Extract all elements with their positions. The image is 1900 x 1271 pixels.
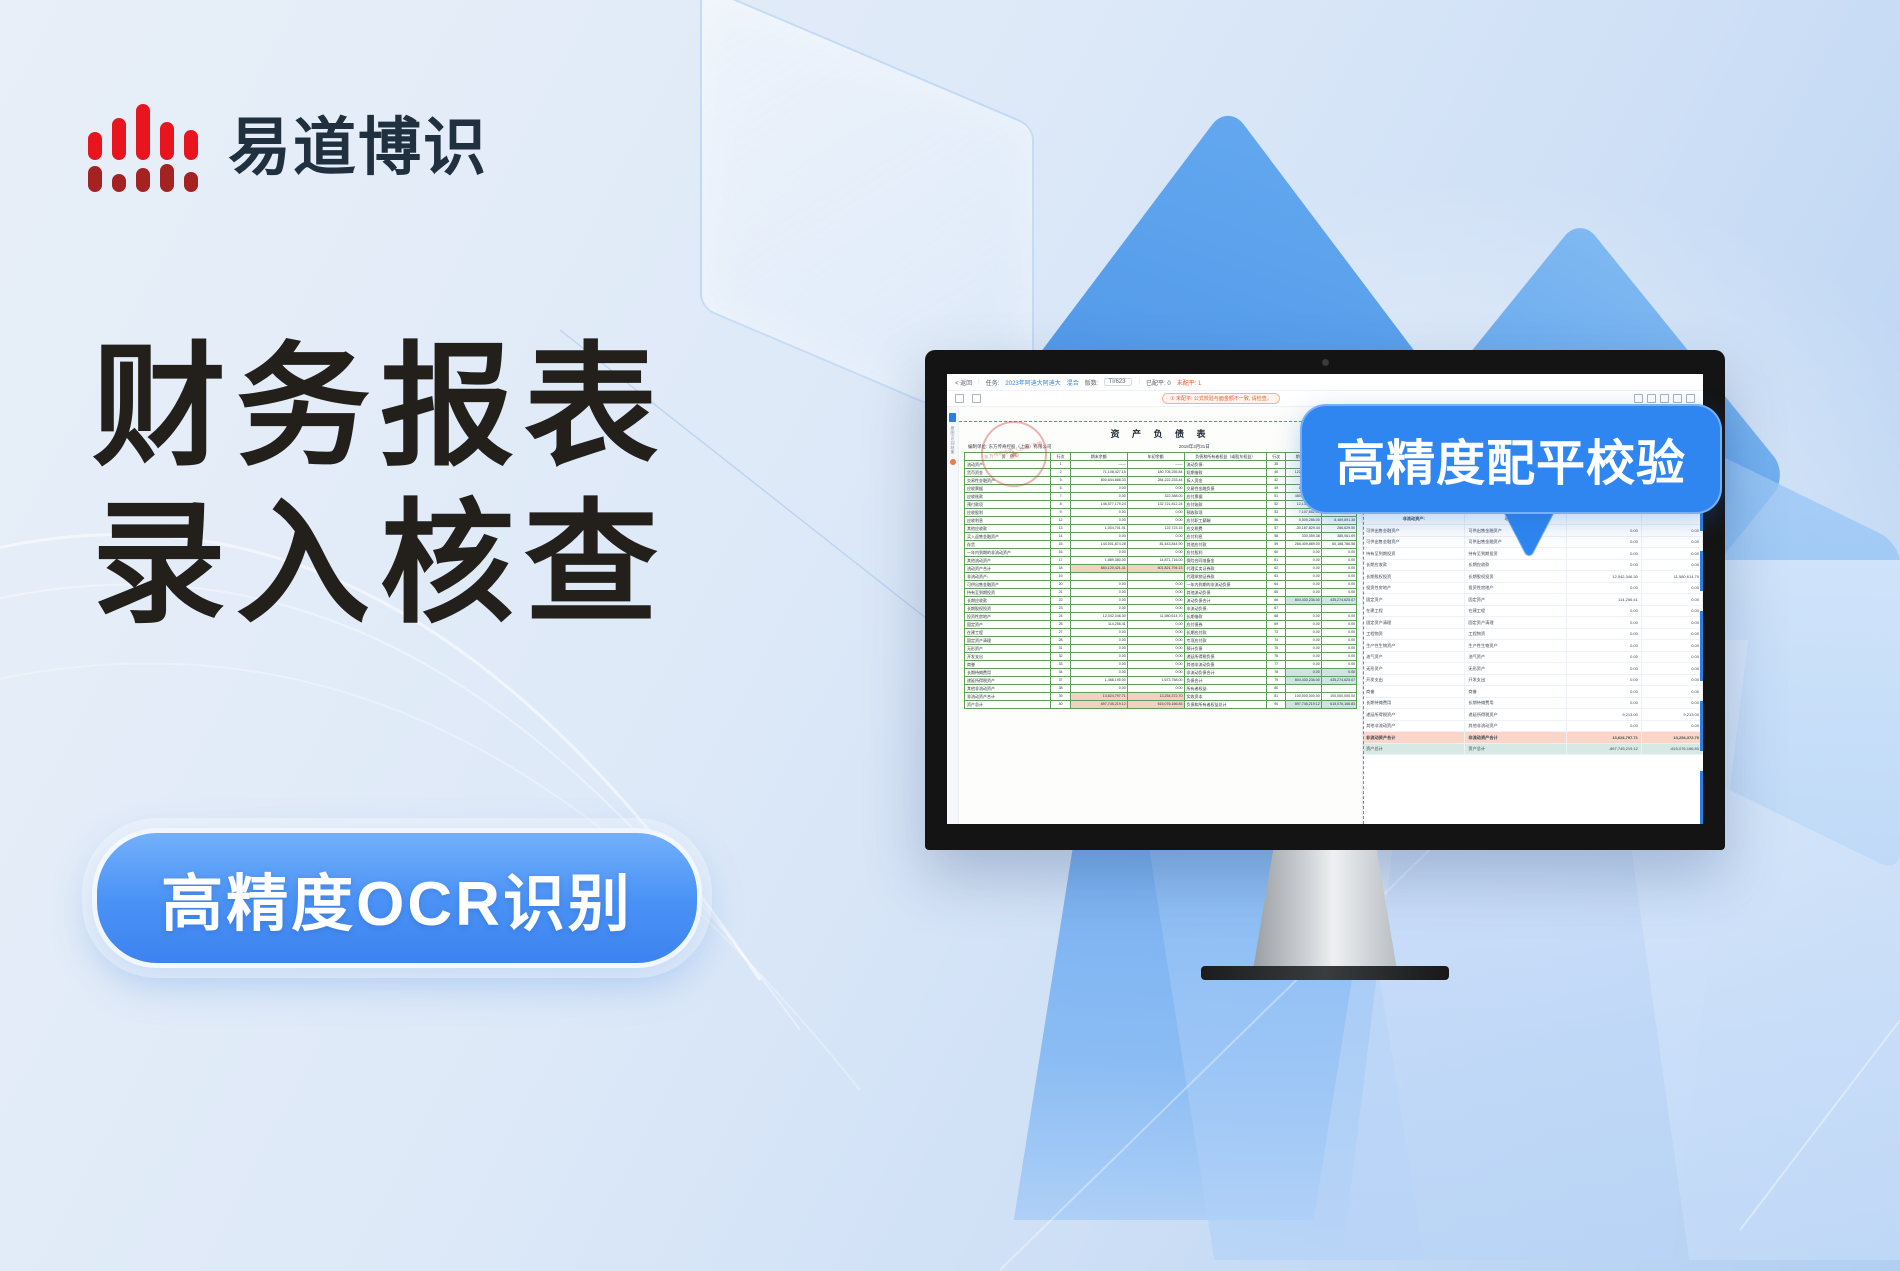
table-cell: 存货 (965, 541, 1051, 549)
th-end-a: 期末余额 (1070, 453, 1127, 461)
table-cell: 0.00 (1286, 645, 1321, 653)
table-cell: 0.00 (1070, 589, 1127, 597)
table-cell: 应付账款 (1184, 501, 1266, 509)
table-row: 其他非流动资产380.000.00所有者权益:80 (965, 685, 1357, 693)
back-button[interactable]: < 返回 (955, 378, 972, 387)
extraction-cell[interactable]: 0.00 (1567, 559, 1642, 571)
table-cell: 0.00 (1127, 517, 1184, 525)
table-cell (1321, 605, 1356, 613)
table-cell: 0.00 (1070, 629, 1127, 637)
table-cell (1070, 573, 1127, 581)
table-cell: 51 (1266, 493, 1286, 501)
extraction-cell[interactable]: 0.00 (1641, 559, 1702, 571)
table-row: 递延所得税资产371,468,195.001,673,758.00负债合计798… (965, 677, 1357, 685)
table-cell: 0.00 (1286, 549, 1321, 557)
table-cell: 非流动负债: (1184, 605, 1266, 613)
table-cell: 应付股利 (1184, 549, 1266, 557)
extraction-cell[interactable]: 投资性房地产 (1465, 582, 1567, 594)
table-cell: 0.00 (1070, 685, 1127, 693)
edit-icon[interactable] (1673, 394, 1682, 403)
table-cell: 长期应付款 (1184, 629, 1266, 637)
table-cell: 1,468,195.00 (1070, 677, 1127, 685)
extraction-row[interactable]: 商誉商誉0.000.00 (1363, 686, 1702, 698)
table-cell: 5,509,286.00 (1286, 517, 1321, 525)
table-cell: 0.00 (1286, 565, 1321, 573)
extraction-cell[interactable]: 0.00 (1641, 674, 1702, 686)
table-cell: 284,222,233.44 (1127, 477, 1184, 485)
table-cell: 0.00 (1127, 653, 1184, 661)
table-cell: 应交税费 (1184, 525, 1266, 533)
extraction-cell[interactable]: 可供出售金融资产 (1363, 536, 1465, 548)
table-cell: 0.00 (1127, 485, 1184, 493)
table-cell: 0.00 (1127, 581, 1184, 589)
table-row: 应收票据60.000.00交易性金融负债491,158,700.000.00 (965, 485, 1357, 493)
extraction-cell[interactable]: 长期待摊费用 (1363, 697, 1465, 709)
extraction-cell[interactable]: 油气资产 (1465, 651, 1567, 663)
extraction-cell[interactable]: 工程物资 (1363, 628, 1465, 640)
extraction-cell[interactable]: 固定资产 (1465, 594, 1567, 606)
extraction-row[interactable]: 无形资产无形资产0.000.00 (1363, 663, 1702, 675)
table-row: 固定资产清理280.000.00专项应付款740.000.00 (965, 637, 1357, 645)
table-cell: 100,000,000.00 (1321, 693, 1356, 701)
table-cell: 435,274,625.07 (1321, 597, 1356, 605)
table-cell: 62 (1266, 565, 1286, 573)
table-row: 非流动资产合计3913,624,797.7113,254,372.70实收资本8… (965, 693, 1357, 701)
table-cell: 31 (1051, 645, 1071, 653)
table-cell: 1 (1051, 461, 1071, 469)
table-cell: 38 (1051, 685, 1071, 693)
table-cell: 0.00 (1321, 557, 1356, 565)
table-cell: 67 (1266, 605, 1286, 613)
table-cell: 23 (1051, 605, 1071, 613)
extraction-cell[interactable]: 在建工程 (1363, 605, 1465, 617)
table-row: 在建工程270.000.00长期应付款730.000.00 (965, 629, 1357, 637)
table-cell: 74 (1266, 637, 1286, 645)
table-cell: 25 (1051, 621, 1071, 629)
table-row: 流动资产合计18884,120,421.41601,821,794.13代理买卖… (965, 565, 1357, 573)
table-cell: 80 (1266, 685, 1286, 693)
table-cell: 2 (1051, 469, 1071, 477)
table-cell: 其他非流动资产 (965, 685, 1051, 693)
table-cell: 非流动资产: (965, 573, 1051, 581)
table-cell: 0.00 (1127, 589, 1184, 597)
table-cell: 0.00 (1070, 669, 1127, 677)
table-row: 其他流动资产171,889,380.0014,871,716.00保险合同准备金… (965, 557, 1357, 565)
extraction-cell[interactable]: 0.00 (1567, 525, 1642, 537)
table-cell: 应付利息 (1184, 533, 1266, 541)
table-row: 预付款项8146,577,179.24132,721,812.24应付账款521… (965, 501, 1357, 509)
extraction-cell[interactable]: 在建工程 (1465, 605, 1567, 617)
table-cell: 资产总计 (965, 701, 1051, 709)
extraction-cell[interactable]: 0.00 (1641, 628, 1702, 640)
table-cell: 77 (1266, 661, 1286, 669)
extraction-cell[interactable]: 0.00 (1567, 720, 1642, 732)
table-cell: 0.00 (1321, 637, 1356, 645)
table-cell: 0.00 (1070, 653, 1127, 661)
table-cell: 应收股利 (965, 509, 1051, 517)
print-icon[interactable] (972, 394, 981, 403)
table-cell: 20 (1051, 581, 1071, 589)
table-cell: 0.00 (1286, 637, 1321, 645)
extraction-cell[interactable]: 0.00 (1567, 536, 1642, 548)
table-cell: 代理买卖证券款 (1184, 565, 1266, 573)
table-row: 非流动资产:19代理承销证券款630.000.00 (965, 573, 1357, 581)
extraction-cell[interactable]: 长期股权投资 (1465, 571, 1567, 583)
table-row: 开发支出320.000.00递延所得税负债760.000.00 (965, 653, 1357, 661)
extraction-row[interactable]: 长期应收款长期应收款0.000.00 (1363, 559, 1702, 571)
extraction-row[interactable]: 长期待摊费用长期待摊费用0.000.00 (1363, 697, 1702, 709)
extraction-cell[interactable]: 开发支出 (1465, 674, 1567, 686)
table-cell: 0.00 (1321, 653, 1356, 661)
extraction-cell[interactable]: 非流动资产: (1363, 513, 1465, 525)
table-row: 存货15144,001,874.2881,443,844.90其他应付款5926… (965, 541, 1357, 549)
rail-page-number[interactable] (949, 413, 956, 422)
extraction-cell[interactable]: 12,042,346.30 (1567, 571, 1642, 583)
extraction-cell[interactable]: 0.00 (1567, 697, 1642, 709)
table-cell: 流动负债合计 (1184, 597, 1266, 605)
table-cell: 0.00 (1127, 637, 1184, 645)
table-cell: 385,061.69 (1321, 533, 1356, 541)
extraction-cell[interactable]: -615,076,166.83 (1641, 743, 1702, 755)
extraction-cell[interactable]: 非流动资产合计 (1363, 732, 1465, 744)
table-cell: 0.00 (1321, 581, 1356, 589)
table-cell: 19 (1051, 573, 1071, 581)
table-cell: —— (1127, 461, 1184, 469)
extraction-row[interactable]: 油气资产油气资产0.000.00 (1363, 651, 1702, 663)
table-cell: 800,844,888.33 (1070, 477, 1127, 485)
table-cell: 615,076,166.83 (1127, 701, 1184, 709)
table-cell: 应收利息 (965, 517, 1051, 525)
table-cell: 63 (1266, 573, 1286, 581)
extraction-cell[interactable]: 资产总计 (1363, 743, 1465, 755)
extraction-cell[interactable]: 长期应收款 (1465, 559, 1567, 571)
table-cell: 286,629.50 (1321, 525, 1356, 533)
extraction-cell[interactable]: 0.00 (1641, 548, 1702, 560)
table-cell: 0.00 (1127, 645, 1184, 653)
extraction-cell[interactable]: 固定资产清理 (1465, 617, 1567, 629)
table-cell: 37 (1051, 677, 1071, 685)
table-cell: 0.00 (1286, 621, 1321, 629)
extraction-cell[interactable]: 其他非流动资产 (1363, 720, 1465, 732)
extraction-cell[interactable] (1641, 513, 1702, 525)
table-cell: 0.00 (1127, 533, 1184, 541)
balanced-count: 已配平: 0 (1146, 378, 1171, 387)
extraction-cell[interactable]: 固定资产清理 (1363, 617, 1465, 629)
brand-name: 易道博识 (228, 117, 488, 180)
extraction-cell[interactable]: -897,745,219.12 (1567, 743, 1642, 755)
table-cell: 0.00 (1321, 613, 1356, 621)
table-cell: 递延所得税资产 (965, 677, 1051, 685)
table-cell: 601,821,794.13 (1127, 565, 1184, 573)
table-cell: 开发支出 (965, 653, 1051, 661)
extraction-row[interactable]: 非流动资产合计非流动资产合计13,624,797.7113,254,372.70 (1363, 732, 1702, 744)
table-cell: 0.00 (1127, 685, 1184, 693)
table-cell: 66 (1266, 597, 1286, 605)
table-cell: 0.00 (1070, 597, 1127, 605)
extraction-cell[interactable]: 开发支出 (1363, 674, 1465, 686)
table-cell: 0.00 (1321, 629, 1356, 637)
table-cell: 0.00 (1321, 621, 1356, 629)
table-cell: 35 (1266, 461, 1286, 469)
table-row: 长期待摊费用340.000.00非流动负债合计780.000.00 (965, 669, 1357, 677)
table-row: 长期应收款220.000.00流动负债合计66804,430,236.00435… (965, 597, 1357, 605)
table-cell: 其他流动资产 (965, 557, 1051, 565)
extraction-cell[interactable] (1567, 513, 1642, 525)
extraction-cell[interactable]: 0.00 (1567, 628, 1642, 640)
table-cell: 长期应收款 (965, 597, 1051, 605)
extraction-cell[interactable]: 0.00 (1567, 605, 1642, 617)
extraction-cell[interactable]: 0.00 (1641, 582, 1702, 594)
extraction-cell[interactable]: 13,254,372.70 (1641, 732, 1702, 744)
table-cell: 0.00 (1070, 605, 1127, 613)
table-cell: 其他流动负债 (1184, 589, 1266, 597)
table-cell: 60,188,786.58 (1321, 541, 1356, 549)
table-cell: 0.00 (1070, 661, 1127, 669)
table-cell: 7 (1051, 493, 1071, 501)
extraction-row[interactable]: 生产性生物资产生产性生物资产0.000.00 (1363, 640, 1702, 652)
table-cell: 6 (1051, 485, 1071, 493)
table-cell: 0.00 (1286, 653, 1321, 661)
table-cell: 114,256.41 (1070, 621, 1127, 629)
th-row-b: 行次 (1266, 453, 1286, 461)
table-cell: 0.00 (1321, 573, 1356, 581)
extraction-cell[interactable]: 0.00 (1641, 640, 1702, 652)
table-cell: 0.00 (1321, 589, 1356, 597)
table-cell: 负债和所有者权益总计 (1184, 701, 1266, 709)
extraction-cell[interactable]: 无形资产 (1465, 663, 1567, 675)
table-cell: 146,577,179.24 (1070, 501, 1127, 509)
extraction-row[interactable]: 长期股权投资长期股权投资12,042,346.3011,580,614.70 (1363, 571, 1702, 583)
table-cell: 49 (1266, 485, 1286, 493)
extraction-cell[interactable]: 9,213.00 (1567, 709, 1642, 721)
task-label: 任务: (986, 378, 1000, 387)
table-cell: 其他应收款 (965, 525, 1051, 533)
table-cell: 32 (1051, 653, 1071, 661)
extraction-row[interactable]: 投资性房地产投资性房地产0.000.00 (1363, 582, 1702, 594)
table-cell: 专项应付款 (1184, 637, 1266, 645)
cta-button[interactable]: 高精度OCR识别 (92, 828, 702, 968)
extraction-cell[interactable]: 0.00 (1567, 651, 1642, 663)
promo-banner: 易道博识 财务报表 录入核查 高精度OCR识别 < 返回 | 任务: 2023年… (0, 0, 1900, 1271)
table-cell: 897,745,219.12 (1286, 701, 1321, 709)
table-cell: 0.00 (1070, 645, 1127, 653)
extraction-cell[interactable]: 递延所得税资产 (1465, 709, 1567, 721)
table-cell: 615,076,166.83 (1321, 701, 1356, 709)
table-cell: 81,443,844.90 (1127, 541, 1184, 549)
table-cell: 58 (1266, 533, 1286, 541)
extraction-cell[interactable]: 投资性房地产 (1363, 582, 1465, 594)
table-cell: 42 (1266, 477, 1286, 485)
task-name[interactable]: 2023年阿迪大阿迪大 (1005, 378, 1060, 387)
extraction-row[interactable]: 在建工程在建工程0.000.00 (1363, 605, 1702, 617)
table-cell: 可供出售金融资产 (965, 581, 1051, 589)
undo-icon[interactable] (1634, 394, 1643, 403)
table-cell: 65 (1266, 589, 1286, 597)
extraction-cell[interactable]: 工程物资 (1465, 628, 1567, 640)
table-cell: 78 (1266, 669, 1286, 677)
extraction-cell[interactable]: 长期应收款 (1363, 559, 1465, 571)
monitor-neck (1253, 850, 1397, 970)
extraction-cell[interactable]: 递延所得税资产 (1363, 709, 1465, 721)
extraction-cell[interactable]: 0.00 (1567, 617, 1642, 629)
table-cell: 804,430,236.00 (1286, 597, 1321, 605)
headline-line-1: 财务报表 (92, 330, 668, 487)
table-cell: 0.00 (1321, 669, 1356, 677)
table-cell: 投资性房地产 (965, 613, 1051, 621)
table-cell: 17 (1051, 557, 1071, 565)
soundwave-logo-icon (88, 104, 206, 192)
table-cell: 81 (1266, 693, 1286, 701)
extraction-row[interactable]: 固定资产固定资产114,256.410.00 (1363, 594, 1702, 606)
extraction-row[interactable]: 递延所得税资产递延所得税资产9,213.009,213.00 (1363, 709, 1702, 721)
extraction-cell[interactable]: 0.00 (1641, 525, 1702, 537)
table-cell: 0.00 (1070, 637, 1127, 645)
extraction-cell[interactable]: 0.00 (1567, 674, 1642, 686)
extraction-cell[interactable]: 0.00 (1567, 663, 1642, 675)
table-cell: 73 (1266, 629, 1286, 637)
extraction-row[interactable]: 其他非流动资产其他非流动资产0.000.00 (1363, 720, 1702, 732)
table-cell: 804,430,236.00 (1286, 677, 1321, 685)
extraction-cell[interactable]: 商誉 (1465, 686, 1567, 698)
table-cell: 递延所得税负债 (1184, 653, 1266, 661)
table-cell: 330,359.38 (1286, 533, 1321, 541)
headline-line-2: 录入核查 (92, 487, 668, 644)
table-cell: 322,388.00 (1127, 493, 1184, 501)
table-cell: 8 (1051, 501, 1071, 509)
table-cell: 0.00 (1286, 661, 1321, 669)
extraction-cell[interactable]: 0.00 (1641, 605, 1702, 617)
extraction-cell[interactable]: 非流动资产合计 (1465, 732, 1567, 744)
extraction-cell[interactable]: 0.00 (1641, 617, 1702, 629)
table-cell: 435,274,625.07 (1321, 677, 1356, 685)
page-select[interactable]: TI/623 (1104, 378, 1132, 386)
table-cell: 15 (1051, 541, 1071, 549)
table-cell: 一年内到期的非流动负债 (1184, 581, 1266, 589)
table-cell: 预收款项 (1184, 509, 1266, 517)
table-cell: 非流动资产合计 (965, 693, 1051, 701)
balance-sheet-table: 资 产 行次 期末余额 年初余额 负债和所有者权益（或股东权益） 行次 期末余额… (964, 452, 1357, 709)
page-rail: 原图/识别结果 (947, 407, 959, 824)
extraction-cell[interactable]: 0.00 (1641, 594, 1702, 606)
extraction-cell[interactable]: 13,624,797.71 (1567, 732, 1642, 744)
table-cell: 76 (1266, 653, 1286, 661)
table-cell: 0.00 (1127, 629, 1184, 637)
table-cell: 12,042,346.30 (1070, 613, 1127, 621)
table-cell: 33 (1051, 661, 1071, 669)
toolbar-right-icons (1634, 394, 1695, 403)
table-cell: 8,489,891.38 (1321, 517, 1356, 525)
extraction-cell[interactable]: 0.00 (1567, 548, 1642, 560)
extraction-cell[interactable]: 0.00 (1641, 536, 1702, 548)
table-cell: 0.00 (1286, 613, 1321, 621)
table-cell: 0.00 (1127, 597, 1184, 605)
extraction-row[interactable]: 固定资产清理固定资产清理0.000.00 (1363, 617, 1702, 629)
extraction-cell[interactable]: 可供出售金融资产 (1363, 525, 1465, 537)
extraction-row[interactable]: 工程物资工程物资0.000.00 (1363, 628, 1702, 640)
table-cell: 应付职工薪酬 (1184, 517, 1266, 525)
extraction-cell[interactable]: 资产总计 (1465, 743, 1567, 755)
table-cell: —— (1070, 461, 1127, 469)
extraction-cell[interactable]: 0.00 (1641, 651, 1702, 663)
extraction-cell[interactable]: 持有至到期投资 (1363, 548, 1465, 560)
rail-label: 原图/识别结果 (950, 426, 956, 455)
extraction-cell[interactable]: 长期股权投资 (1363, 571, 1465, 583)
th-row-a: 行次 (1051, 453, 1071, 461)
extraction-cell[interactable]: 生产性生物资产 (1465, 640, 1567, 652)
table-cell: 短期借款 (1184, 469, 1266, 477)
table-cell (1286, 605, 1321, 613)
table-cell: 0.00 (1286, 589, 1321, 597)
table-cell: 180,705,255.84 (1127, 469, 1184, 477)
layout-icon[interactable] (955, 394, 964, 403)
extraction-cell[interactable]: 0.00 (1641, 697, 1702, 709)
table-cell: 一年内到期的非流动资产 (965, 549, 1051, 557)
table-cell: 5 (1051, 477, 1071, 485)
fullscreen-icon[interactable] (1686, 394, 1695, 403)
extraction-cell[interactable]: 生产性生物资产 (1363, 640, 1465, 652)
doc-date: 2018年3月31日 (1179, 444, 1210, 450)
table-cell: 0.00 (1286, 581, 1321, 589)
table-row: 买入返售金融资产140.000.00应付利息58330,359.38385,06… (965, 533, 1357, 541)
table-cell (1286, 685, 1321, 693)
table-cell: 0.00 (1070, 549, 1127, 557)
extraction-cell[interactable]: 油气资产 (1363, 651, 1465, 663)
table-cell: 代理承销证券款 (1184, 573, 1266, 581)
table-cell: 固定资产清理 (965, 637, 1051, 645)
table-cell: 22 (1051, 597, 1071, 605)
table-cell: 132,721,812.24 (1127, 501, 1184, 509)
table-cell: 24 (1051, 613, 1071, 621)
extraction-cell[interactable]: 0.00 (1567, 582, 1642, 594)
table-cell: 16 (1051, 549, 1071, 557)
table-row: 投资性房地产2412,042,346.3011,580,614.70长期借款68… (965, 613, 1357, 621)
table-row: 无形资产310.000.00预计负债750.000.00 (965, 645, 1357, 653)
extraction-cell[interactable]: 长期待摊费用 (1465, 697, 1567, 709)
brand-lockup: 易道博识 (88, 104, 488, 192)
extraction-cell[interactable]: 114,256.41 (1567, 594, 1642, 606)
extraction-cell[interactable]: 11,580,614.70 (1641, 571, 1702, 583)
extraction-cell[interactable]: 9,213.00 (1641, 709, 1702, 721)
table-cell: 0.00 (1286, 669, 1321, 677)
extraction-cell[interactable]: 0.00 (1641, 686, 1702, 698)
extraction-cell[interactable]: 商誉 (1363, 686, 1465, 698)
extraction-row[interactable]: 开发支出开发支出0.000.00 (1363, 674, 1702, 686)
table-cell: 流动负债: (1184, 461, 1266, 469)
extraction-cell[interactable]: 其他非流动资产 (1465, 720, 1567, 732)
extraction-cell[interactable]: 固定资产 (1363, 594, 1465, 606)
alert-dot-icon[interactable] (950, 459, 956, 465)
table-cell: 14,871,716.00 (1127, 557, 1184, 565)
extraction-cell[interactable]: 0.00 (1567, 686, 1642, 698)
table-cell: 非流动负债合计 (1184, 669, 1266, 677)
table-cell: 34 (1051, 669, 1071, 677)
copy-icon[interactable] (1660, 394, 1669, 403)
cta-label: 高精度OCR识别 (161, 853, 633, 943)
table-cell: 18 (1051, 565, 1071, 573)
extraction-cell[interactable]: 0.00 (1641, 720, 1702, 732)
extraction-cell[interactable]: 0.00 (1567, 640, 1642, 652)
redo-icon[interactable] (1647, 394, 1656, 403)
table-cell: 52 (1266, 501, 1286, 509)
extraction-cell[interactable]: 无形资产 (1363, 663, 1465, 675)
table-cell: 13,624,797.71 (1070, 693, 1127, 701)
extraction-cell[interactable]: 0.00 (1641, 663, 1702, 675)
table-cell: 所有者权益: (1184, 685, 1266, 693)
table-cell: 0.00 (1321, 645, 1356, 653)
table-cell: 0.00 (1070, 485, 1127, 493)
mode-link[interactable]: 混合 (1067, 378, 1079, 387)
extraction-row[interactable]: 资产总计资产总计-897,745,219.12-615,076,166.83 (1363, 743, 1702, 755)
